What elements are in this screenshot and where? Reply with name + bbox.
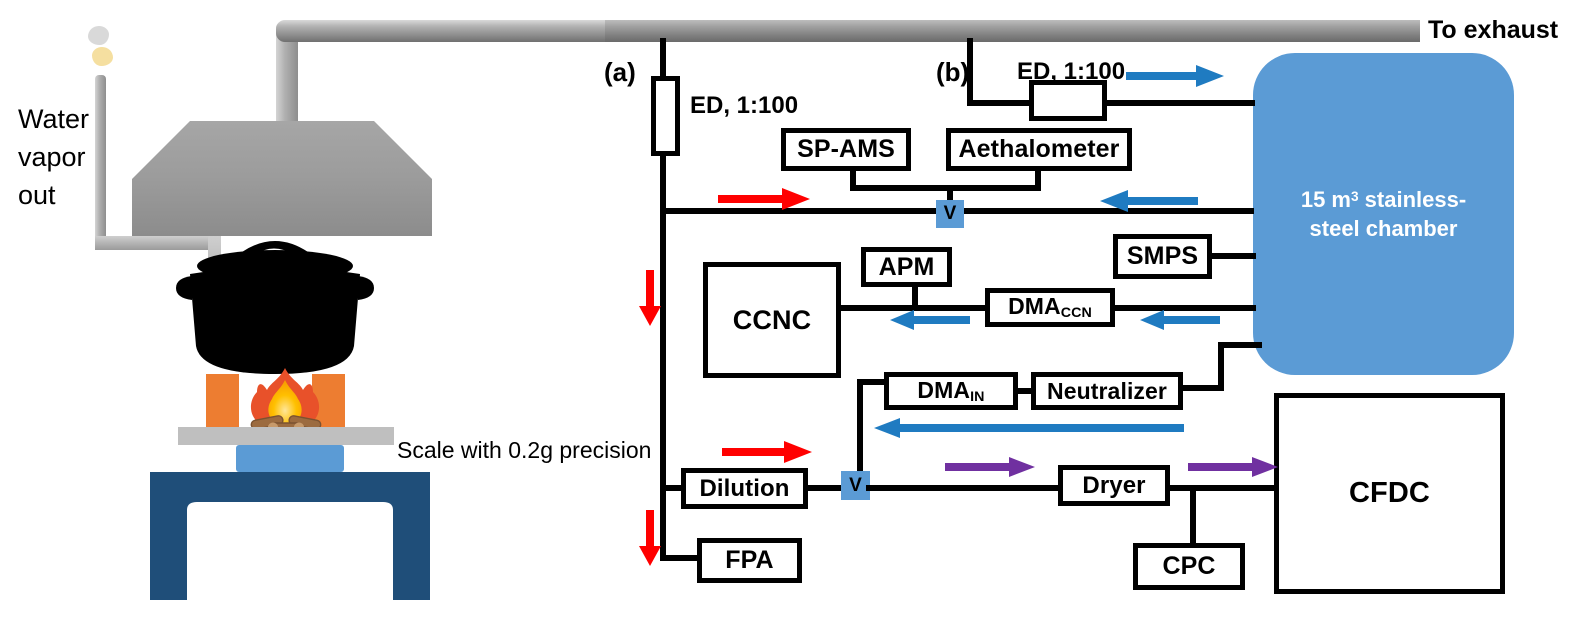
cooking-pot [170,236,380,381]
fpa-label: FPA [725,546,773,575]
apm-label: APM [879,253,935,282]
ccnc-label: CCNC [733,305,811,336]
dma-ccn-subscript: CCN [1061,306,1092,322]
ed-dilutor-b-box [1029,80,1107,121]
branch-b-riser [967,38,973,103]
water-vapor-line-3: out [18,176,89,214]
water-vapor-out-label: Water vapor out [18,100,89,214]
valve-to-dryer [866,485,1061,491]
trunk-to-fpa [660,555,702,561]
hood-duct-horizontal [276,20,628,42]
table-stand [150,472,430,600]
chamber-volume-text: 15 m [1301,187,1351,212]
chamber-caption-line-2: steel chamber [1310,216,1458,241]
dilution-box: Dilution [681,468,808,509]
figure-canvas: Water vapor out Scale with 0.2g precisio… [0,0,1579,619]
water-vapor-pipe-vertical [95,75,106,250]
ed-dilutor-a-label: ED, 1:100 [690,92,798,120]
dma-ccn-box: DMACCN [985,288,1115,327]
valve-upper[interactable]: V [936,200,964,228]
cfdc-label: CFDC [1349,477,1430,510]
dma-in-label: DMAIN [917,377,984,405]
fpa-box: FPA [697,538,802,583]
dryer-label: Dryer [1082,472,1145,500]
dma-ccn-label: DMACCN [1008,293,1092,321]
arrow-sample-dilution [722,441,812,463]
arrow-chamber-out-2 [1140,310,1220,330]
neutralizer-step-2 [1218,342,1224,388]
chamber-material-text: stainless- [1359,187,1467,212]
ed-dilutor-a-box [651,76,680,156]
arrow-ice-2 [1188,457,1278,477]
smps-label: SMPS [1127,242,1198,271]
arrow-chamber-out-1 [1100,190,1198,212]
steam-puff-gray-icon [88,26,109,45]
sp-ams-box: SP-AMS [781,128,911,171]
chamber-volume-exponent: 3 [1351,189,1359,204]
stove-plate [178,427,394,445]
dryer-to-cfdc [1167,485,1277,491]
aerosol-manifold-bar [850,185,1041,191]
panel-a-label: (a) [604,57,636,88]
trunk-to-dilution [660,485,686,491]
sp-ams-label: SP-AMS [797,135,895,164]
arrow-sample-down-2 [639,510,661,566]
fume-hood [132,121,432,236]
smps-box: SMPS [1113,234,1212,279]
arrow-sample-upper [718,188,810,210]
water-vapor-line-2: vapor [18,138,89,176]
dryer-box: Dryer [1058,465,1170,506]
dryer-to-cpc [1190,485,1196,547]
neutralizer-label: Neutralizer [1047,378,1167,405]
dma-in-subscript: IN [970,389,984,405]
valve-upper-label: V [944,203,957,225]
dma-in-to-neutralizer [1014,388,1035,394]
aethalometer-box: Aethalometer [946,128,1132,171]
neutralizer-box: Neutralizer [1031,372,1183,410]
to-exhaust-label: To exhaust [1428,16,1558,45]
aethalometer-label: Aethalometer [959,135,1120,164]
valve-lower-label: V [849,475,862,497]
arrow-chamber-out-3 [890,310,970,330]
arrow-ice-1 [945,457,1035,477]
trunk-line-top [660,38,666,76]
arrow-sample-down-1 [639,270,661,326]
neutralizer-step-3 [1218,342,1262,348]
trunk-line-main [660,155,666,560]
arrow-chamber-fill [1126,65,1224,87]
branch-b-to-chamber [1105,100,1255,106]
ccnc-box: CCNC [703,262,841,378]
stove-brick-left [206,374,239,427]
scale-precision-label: Scale with 0.2g precision [397,437,651,464]
cpc-label: CPC [1162,552,1215,581]
cfdc-box: CFDC [1274,393,1505,594]
apm-box: APM [861,247,952,287]
stainless-steel-chamber: 15 m3 stainless- steel chamber [1253,53,1514,375]
arrow-chamber-out-4 [874,418,1184,438]
chamber-caption: 15 m3 stainless- steel chamber [1301,185,1466,243]
cpc-box: CPC [1133,543,1245,590]
water-vapor-line-1: Water [18,100,89,138]
panel-b-label: (b) [936,57,969,88]
stove-illustration: Water vapor out Scale with 0.2g precisio… [0,0,640,619]
dma-in-box: DMAIN [884,372,1018,410]
ed-dilutor-b-label: ED, 1:100 [1017,58,1125,86]
main-exhaust-duct [605,20,1420,42]
smps-to-chamber [1210,253,1256,259]
steam-puff-yellow-icon [92,47,113,66]
weighing-scale [236,445,344,472]
dilution-label: Dilution [699,475,789,503]
